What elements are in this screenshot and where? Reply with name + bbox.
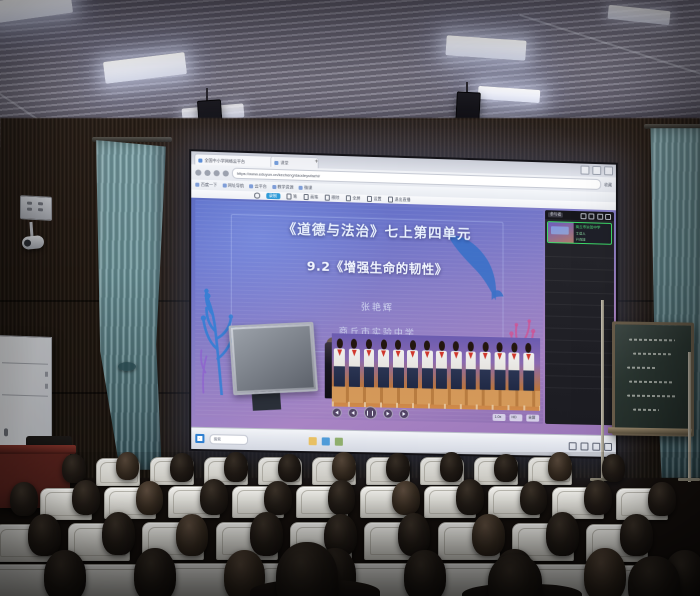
chalk-line xyxy=(633,353,671,356)
chalk-line xyxy=(629,339,675,342)
participant-name: 商丘市实验中学 xyxy=(576,225,609,230)
toolbar-fullscreen-button[interactable]: 全屏 xyxy=(345,195,360,201)
brush-icon xyxy=(303,194,309,200)
bookmark-item[interactable]: 百度一下 xyxy=(195,182,217,189)
audience-head xyxy=(134,548,176,596)
tab-label: 课堂 xyxy=(280,160,288,165)
audience-head xyxy=(548,452,572,481)
audience-head xyxy=(584,480,612,515)
participants-header: 参与者 xyxy=(545,210,614,221)
bookmark-favicon xyxy=(272,185,276,189)
back-icon[interactable] xyxy=(195,169,201,175)
tray-battery-icon[interactable] xyxy=(592,442,600,450)
fullscreen-icon xyxy=(345,195,351,201)
add-icon[interactable] xyxy=(588,213,594,219)
bookmark-label: 云平台 xyxy=(255,183,267,189)
projection-screen: 全国中小学网络云平台 课堂 + xyxy=(189,149,618,459)
audience-head xyxy=(224,452,248,482)
audience-head xyxy=(520,481,547,515)
next-button[interactable] xyxy=(383,408,393,418)
bookmark-favicon xyxy=(222,183,226,187)
play-pause-button[interactable] xyxy=(364,406,377,419)
door-hinge xyxy=(45,384,48,389)
reload-icon[interactable] xyxy=(214,170,220,176)
audience-head xyxy=(278,454,301,482)
toolbar-erase-label: 擦除 xyxy=(331,195,339,201)
door-panel-line xyxy=(2,394,48,397)
minimize-icon[interactable] xyxy=(581,166,590,175)
audience-head xyxy=(62,454,86,483)
tray-notifications-icon[interactable] xyxy=(604,442,612,450)
audience-head xyxy=(584,548,626,596)
window-controls[interactable] xyxy=(581,166,613,176)
tray-volume-icon[interactable] xyxy=(581,442,589,450)
student-figure xyxy=(436,346,447,390)
audience-head xyxy=(116,452,139,480)
taskbar-tray[interactable] xyxy=(569,442,612,451)
student-figure xyxy=(349,344,360,388)
taskbar-app-media-icon[interactable] xyxy=(335,437,343,445)
participant-role: 主讲人 xyxy=(576,231,609,236)
blackboard xyxy=(612,321,694,436)
audience-head xyxy=(72,480,100,515)
audience-head xyxy=(392,481,420,515)
auditorium-scene: 全国中小学网络云平台 课堂 + xyxy=(0,0,700,596)
previous-button[interactable] xyxy=(348,407,358,417)
student-figure xyxy=(480,347,491,391)
student-figure xyxy=(523,348,534,392)
door-hinge xyxy=(45,372,48,377)
audience-head xyxy=(456,479,484,515)
student-figure xyxy=(393,345,404,389)
home-icon[interactable] xyxy=(223,170,229,176)
close-icon[interactable] xyxy=(604,166,613,175)
eraser-icon xyxy=(324,195,330,201)
student-figure xyxy=(378,345,389,389)
audience-head xyxy=(332,452,356,481)
chalk-line xyxy=(629,381,673,384)
maximize-icon[interactable] xyxy=(592,166,601,175)
slide-canvas: 《道德与法治》七上第四单元 9.2《增强生命的韧性》 张艳辉 商丘市实验中学 xyxy=(195,200,543,424)
toolbar-brush-label: 画笔 xyxy=(310,194,318,200)
bookmark-label: 教学资源 xyxy=(277,184,293,191)
audience-head xyxy=(404,550,446,596)
audience-head xyxy=(648,482,676,516)
audience-head xyxy=(250,512,283,556)
grid-icon[interactable] xyxy=(605,213,611,219)
bookmark-label: 网址导航 xyxy=(228,183,244,190)
student-figure xyxy=(422,346,433,390)
audience-head xyxy=(386,453,410,482)
class-stage: 《道德与法治》七上第四单元 9.2《增强生命的韧性》 张艳辉 商丘市实验中学 xyxy=(191,198,616,436)
participants-title: 参与者 xyxy=(548,212,563,217)
tab-favicon xyxy=(274,161,278,165)
forward-icon[interactable] xyxy=(204,169,210,175)
curtain-tieback xyxy=(118,362,136,371)
student-figure xyxy=(494,347,505,391)
fullscreen-chip[interactable]: 全屏 xyxy=(526,415,539,422)
wall-control-plate xyxy=(20,195,52,221)
start-button-icon[interactable] xyxy=(195,434,204,443)
bookmark-item[interactable]: 微课 xyxy=(299,185,313,191)
chalk-line xyxy=(627,395,677,398)
student-figure xyxy=(364,344,375,388)
participant-thumbnail xyxy=(548,222,574,243)
student-figure xyxy=(465,347,476,391)
taskbar-app-explorer-icon[interactable] xyxy=(309,437,317,445)
toolbar-record-button[interactable]: 录制 xyxy=(266,193,280,199)
classroom-monitor xyxy=(228,322,317,395)
audience-head xyxy=(200,479,228,515)
playback-speed-chip[interactable]: 1.0x xyxy=(493,414,506,421)
tray-network-icon[interactable] xyxy=(569,442,577,450)
taskbar-apps[interactable] xyxy=(309,437,343,446)
toolbar-brush-button[interactable]: 画笔 xyxy=(303,194,318,200)
toolbar-fullscreen-label: 全屏 xyxy=(352,195,360,201)
tab-label: 全国中小学网络云平台 xyxy=(204,158,245,164)
step-forward-button[interactable] xyxy=(399,408,409,418)
door-panel-line xyxy=(2,362,48,365)
toolbar-erase-button[interactable]: 擦除 xyxy=(324,195,339,201)
toolbar-settings-label: 设置 xyxy=(373,196,381,202)
audience-head xyxy=(176,514,208,556)
toolbar-pen-label: 笔 xyxy=(293,194,297,200)
participant-card[interactable]: 商丘市实验中学 主讲人 已连接 xyxy=(547,221,612,245)
chalk-line xyxy=(633,409,659,411)
audience-head xyxy=(102,512,135,555)
new-tab-button[interactable]: + xyxy=(315,159,319,165)
bookmark-label: 微课 xyxy=(304,185,312,191)
taskbar-app-browser-icon[interactable] xyxy=(322,437,330,445)
audience-head xyxy=(328,480,355,515)
mic-icon[interactable] xyxy=(597,213,603,219)
pen-icon xyxy=(286,194,292,200)
audience-head xyxy=(472,514,505,556)
audience-head xyxy=(620,514,653,556)
audience-head xyxy=(440,452,463,482)
audience-area: 排 10 号 xyxy=(0,452,700,596)
toolbar-exit-label: 退出直播 xyxy=(395,197,411,203)
students-video-region xyxy=(332,333,539,411)
bookmark-item[interactable]: 网址导航 xyxy=(222,182,244,189)
audience-head xyxy=(546,512,579,556)
bookmark-favicon xyxy=(249,184,253,188)
student-figure xyxy=(407,345,418,389)
student-figure xyxy=(451,346,462,390)
audience-head xyxy=(44,550,86,596)
door-knob[interactable] xyxy=(4,428,8,436)
audience-head xyxy=(10,482,38,516)
audience-head xyxy=(170,453,194,482)
audience-head xyxy=(28,514,61,556)
chalk-line xyxy=(627,367,657,370)
toolbar-pen-button[interactable]: 笔 xyxy=(286,193,297,199)
participant-status: 已连接 xyxy=(576,237,609,242)
tab-favicon xyxy=(198,158,202,162)
video-right-controls[interactable]: 1.0x HD 全屏 xyxy=(493,414,540,422)
bookmark-item[interactable]: 云平台 xyxy=(249,183,267,190)
audience-head xyxy=(136,481,163,515)
bookmark-favicon xyxy=(195,183,199,187)
step-back-button[interactable] xyxy=(332,407,342,417)
taskbar-search-input[interactable]: 搜索 xyxy=(210,434,249,445)
bookmark-star-label[interactable]: 收藏 xyxy=(604,182,612,188)
audience-head xyxy=(494,454,518,482)
audience-head xyxy=(602,454,625,482)
participants-header-icons[interactable] xyxy=(580,213,611,220)
bookmark-favicon xyxy=(299,186,303,190)
quality-chip[interactable]: HD xyxy=(509,414,522,421)
toolbar-record-label: 录制 xyxy=(269,193,277,199)
exit-icon xyxy=(387,197,393,203)
student-figure xyxy=(509,348,520,392)
bookmark-item[interactable]: 教学资源 xyxy=(272,184,294,191)
toolbar-mic-icon[interactable] xyxy=(254,193,260,199)
list-icon[interactable] xyxy=(580,213,586,219)
toolbar-exit-button[interactable]: 退出直播 xyxy=(387,196,410,203)
audience-head xyxy=(264,481,292,515)
bookmark-label: 百度一下 xyxy=(201,182,217,189)
student-figure xyxy=(334,344,345,388)
toolbar-settings-button[interactable]: 设置 xyxy=(366,196,381,202)
gear-icon xyxy=(366,196,372,202)
